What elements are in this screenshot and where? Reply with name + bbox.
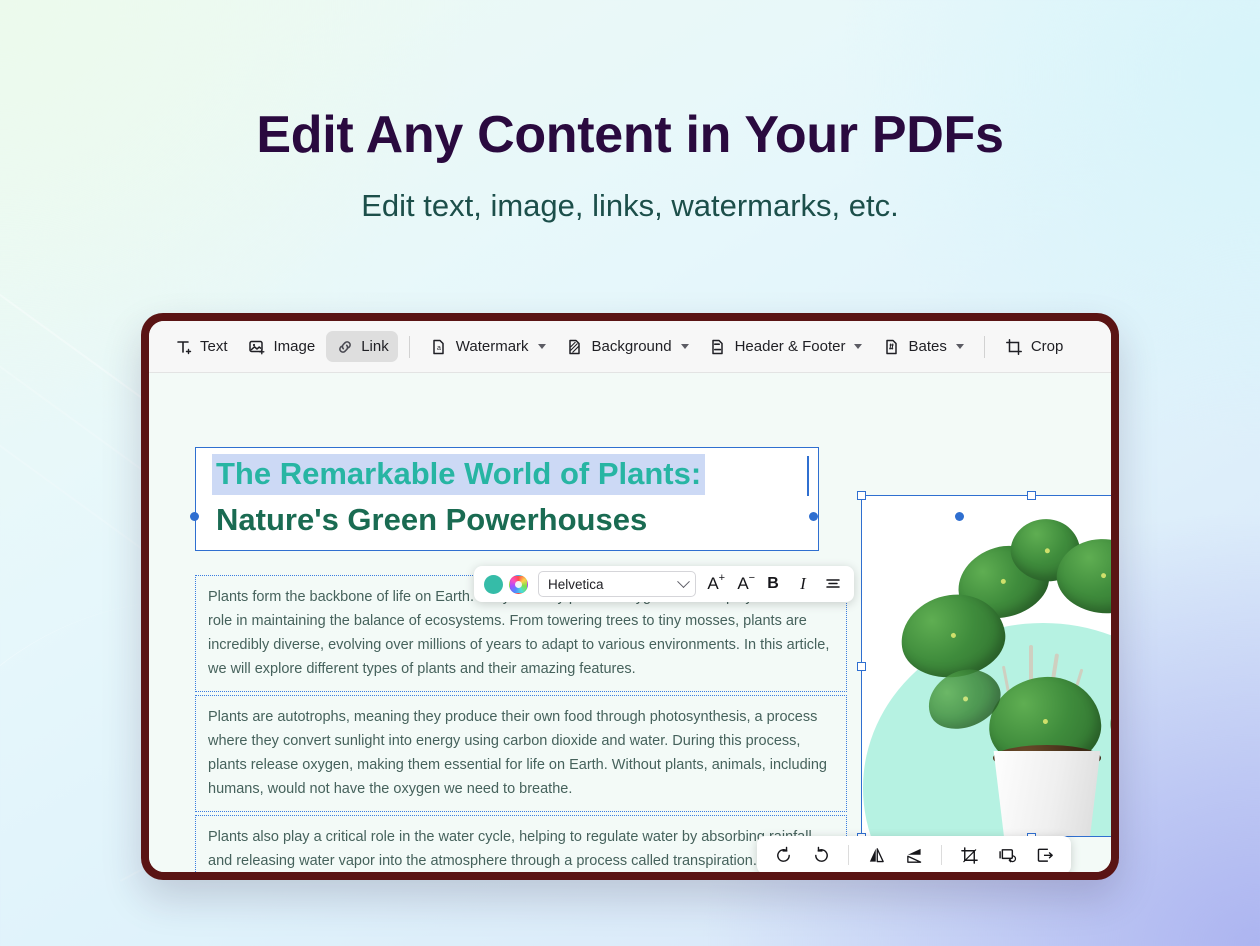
toolbar-item-bates[interactable]: Bates xyxy=(873,331,972,362)
heading-text-block[interactable]: The Remarkable World of Plants: Nature's… xyxy=(195,447,819,551)
text-format-toolbar: Helvetica A + A − B I xyxy=(474,566,854,602)
align-button[interactable] xyxy=(820,570,846,598)
rotate-left-button[interactable] xyxy=(769,841,797,869)
chevron-down-icon[interactable] xyxy=(538,344,546,349)
toolbar-item-image[interactable]: Image xyxy=(239,331,325,362)
text-block-handle[interactable] xyxy=(190,512,199,521)
header-footer-icon xyxy=(709,337,728,356)
rotate-right-icon xyxy=(812,846,831,865)
toolbar-item-watermark[interactable]: a Watermark xyxy=(421,331,555,362)
text-block-handle[interactable] xyxy=(955,512,964,521)
color-controls xyxy=(482,575,534,594)
plant-photo xyxy=(861,495,1111,837)
background-icon xyxy=(566,337,585,356)
export-image-icon xyxy=(1036,846,1055,865)
svg-text:a: a xyxy=(437,345,441,352)
flip-vertical-button[interactable] xyxy=(900,841,928,869)
toolbar-item-crop[interactable]: Crop xyxy=(996,331,1073,362)
increase-font-size-sup: + xyxy=(719,573,725,584)
toolbar-item-label: Crop xyxy=(1031,338,1064,355)
heading-line-1: The Remarkable World of Plants: xyxy=(212,454,705,495)
color-wheel-icon[interactable] xyxy=(509,575,528,594)
hero-section: Edit Any Content in Your PDFs Edit text,… xyxy=(0,0,1260,224)
toolbar-divider xyxy=(984,336,985,358)
text-block-handle[interactable] xyxy=(809,512,818,521)
plant-pot xyxy=(989,751,1105,837)
text-icon xyxy=(174,337,193,356)
decrease-font-size-label: A xyxy=(737,574,748,594)
document-page: The Remarkable World of Plants: Nature's… xyxy=(149,373,1111,872)
chevron-down-icon[interactable] xyxy=(681,344,689,349)
text-color-swatch[interactable] xyxy=(484,575,503,594)
flip-horizontal-icon xyxy=(867,846,886,865)
page-subtitle: Edit text, image, links, watermarks, etc… xyxy=(0,188,1260,224)
toolbar-item-header-footer[interactable]: Header & Footer xyxy=(700,331,872,362)
flip-horizontal-button[interactable] xyxy=(862,841,890,869)
heading-line-2: Nature's Green Powerhouses xyxy=(216,502,647,538)
replace-image-icon xyxy=(998,846,1017,865)
link-icon xyxy=(335,337,354,356)
toolbar-item-label: Bates xyxy=(908,338,946,355)
decrease-font-size-sup: − xyxy=(749,573,755,584)
crop-image-button[interactable] xyxy=(955,841,983,869)
image-icon xyxy=(248,337,267,356)
align-center-icon xyxy=(825,576,841,592)
app-window-inner: Text Image xyxy=(149,321,1111,872)
export-image-button[interactable] xyxy=(1031,841,1059,869)
font-family-select[interactable]: Helvetica xyxy=(538,571,696,597)
page-title: Edit Any Content in Your PDFs xyxy=(0,106,1260,166)
rotate-left-icon xyxy=(774,846,793,865)
italic-button[interactable]: I xyxy=(790,570,816,598)
toolbar-item-label: Link xyxy=(361,338,389,355)
toolbar-divider xyxy=(848,845,849,865)
toolbar-item-link[interactable]: Link xyxy=(326,331,398,362)
increase-font-size-button[interactable]: A + xyxy=(700,570,726,598)
paragraph-block[interactable]: Plants also play a critical role in the … xyxy=(195,815,847,872)
chevron-down-icon[interactable] xyxy=(956,344,964,349)
toolbar-item-text[interactable]: Text xyxy=(165,331,237,362)
toolbar-item-label: Header & Footer xyxy=(735,338,846,355)
toolbar-item-label: Watermark xyxy=(456,338,529,355)
toolbar-item-background[interactable]: Background xyxy=(557,331,698,362)
toolbar-divider xyxy=(941,845,942,865)
chevron-down-icon xyxy=(677,575,690,588)
edit-toolbar: Text Image xyxy=(149,321,1111,373)
font-family-value: Helvetica xyxy=(548,577,604,592)
watermark-icon: a xyxy=(430,337,449,356)
bates-icon xyxy=(882,337,901,356)
app-window: Text Image xyxy=(141,313,1119,880)
toolbar-divider xyxy=(409,336,410,358)
decrease-font-size-button[interactable]: A − xyxy=(730,570,756,598)
flip-vertical-icon xyxy=(905,846,924,865)
image-action-toolbar xyxy=(757,836,1071,872)
crop-icon xyxy=(1005,337,1024,356)
toolbar-item-label: Text xyxy=(200,338,228,355)
toolbar-item-label: Image xyxy=(274,338,316,355)
bold-button[interactable]: B xyxy=(760,570,786,598)
replace-image-button[interactable] xyxy=(993,841,1021,869)
crop-image-icon xyxy=(960,846,979,865)
chevron-down-icon[interactable] xyxy=(854,344,862,349)
rotate-right-button[interactable] xyxy=(807,841,835,869)
image-object[interactable] xyxy=(861,495,1111,837)
toolbar-item-label: Background xyxy=(592,338,672,355)
paragraph-block[interactable]: Plants are autotrophs, meaning they prod… xyxy=(195,695,847,812)
text-caret xyxy=(807,456,809,496)
increase-font-size-label: A xyxy=(707,574,718,594)
